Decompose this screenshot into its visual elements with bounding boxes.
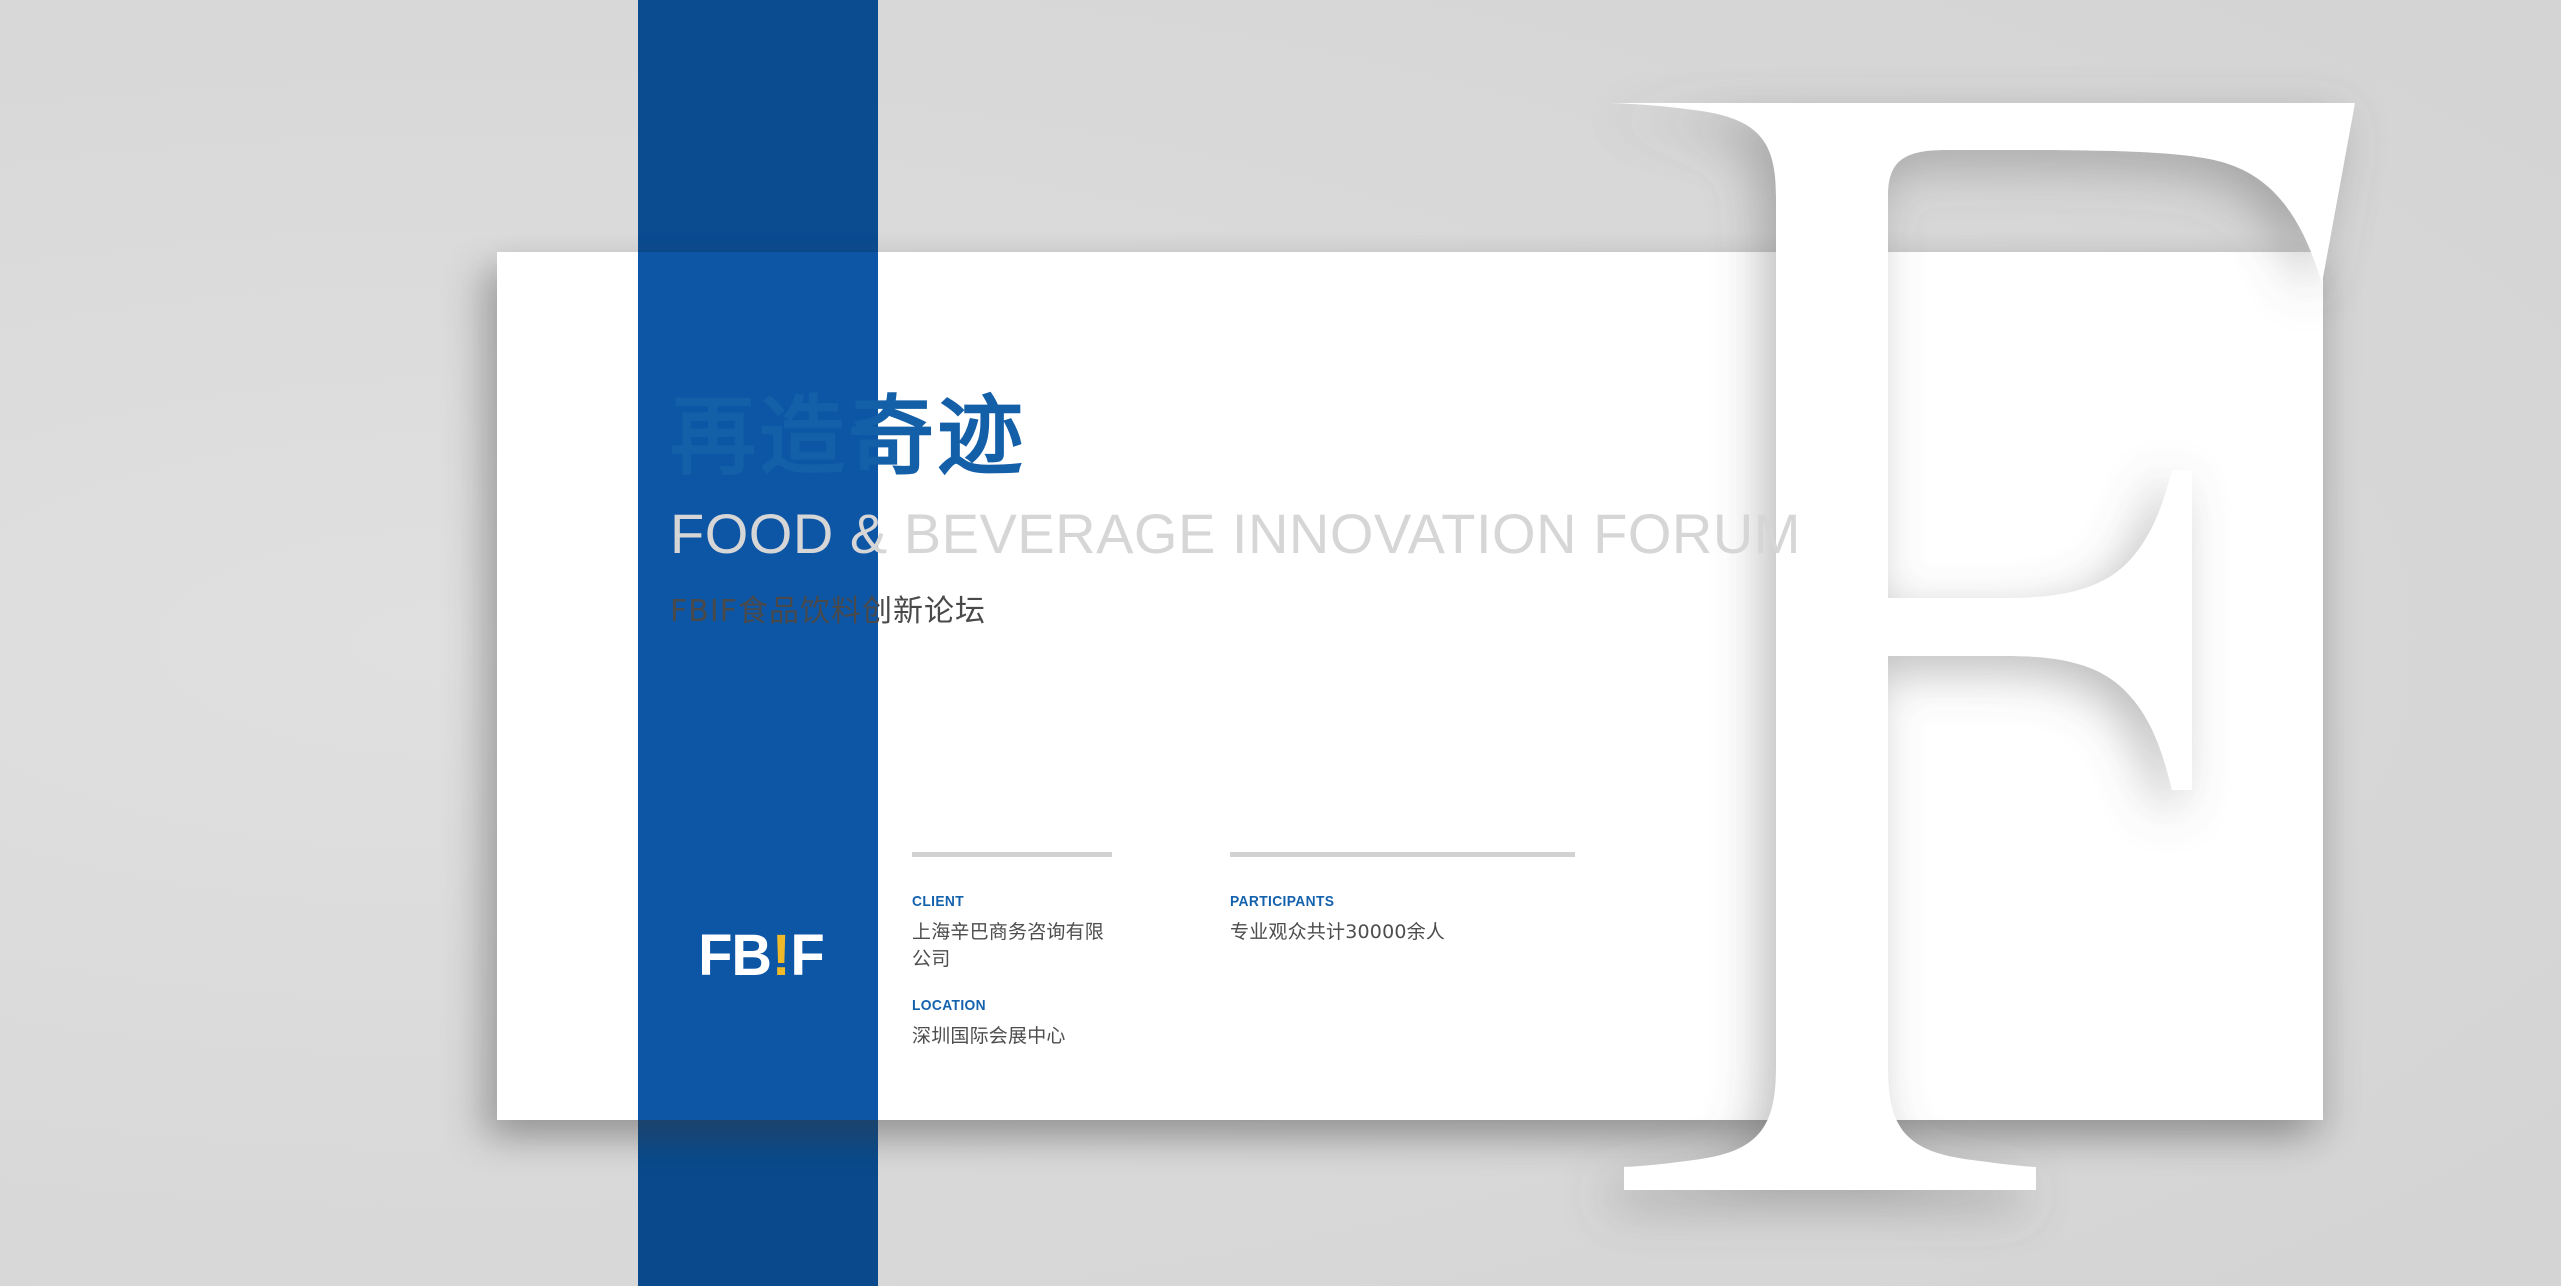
meta-label-location: LOCATION [912, 997, 1096, 1014]
page-title: 再造奇迹 [670, 392, 1770, 482]
meta-value-client: 上海辛巴商务咨询有限公司 [912, 917, 1112, 971]
meta-divider [912, 852, 1112, 857]
poster-canvas: 再造奇迹 FOOD & BEVERAGE INNOVATION FORUM FB… [0, 0, 2561, 1286]
logo-panel: FB!F [644, 788, 878, 1120]
meta-value-participants: 专业观众共计30000余人 [1230, 917, 1575, 944]
meta-label-client: CLIENT [912, 893, 1096, 910]
meta-label-participants: PARTICIPANTS [1230, 893, 1547, 910]
meta-divider [1230, 852, 1575, 857]
logo-exclamation-icon: ! [771, 920, 791, 988]
meta-value-location: 深圳国际会展中心 [912, 1021, 1112, 1048]
chinese-subtitle: FBIF食品饮料创新论坛 [670, 586, 1770, 630]
logo-text-part1: FB [698, 920, 771, 988]
fbif-logo: FB!F [698, 920, 824, 988]
logo-text-part2: F [791, 920, 824, 988]
vertical-blue-stripe-upper [638, 0, 878, 252]
meta-column-left: CLIENT 上海辛巴商务咨询有限公司 LOCATION 深圳国际会展中心 [912, 852, 1112, 1048]
meta-column-right: PARTICIPANTS 专业观众共计30000余人 [1230, 852, 1575, 944]
english-subtitle: FOOD & BEVERAGE INNOVATION FORUM [670, 506, 1770, 562]
headline-block: 再造奇迹 FOOD & BEVERAGE INNOVATION FORUM FB… [670, 392, 1770, 630]
